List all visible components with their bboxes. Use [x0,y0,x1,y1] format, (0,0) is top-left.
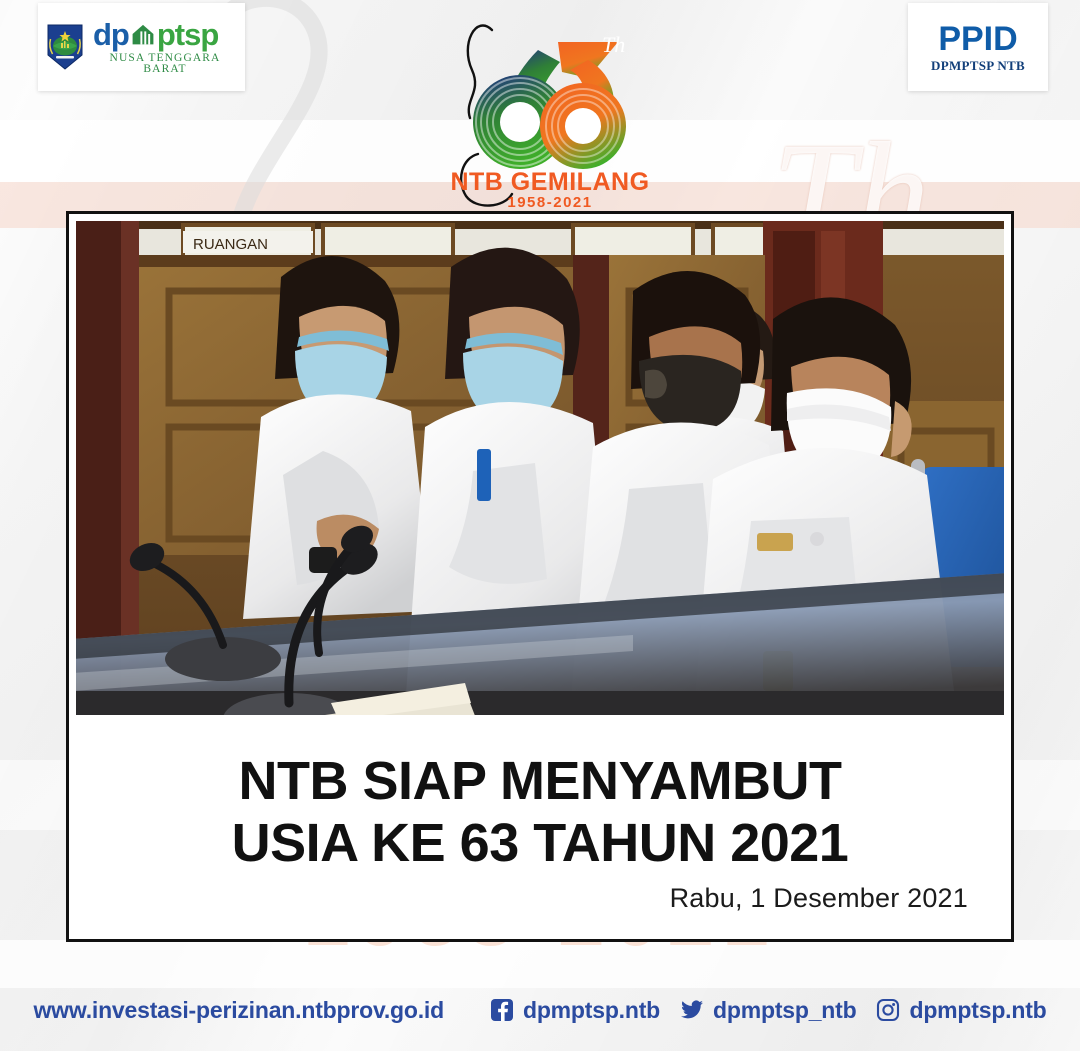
instagram-handle[interactable]: dpmptsp.ntb [876,997,1046,1024]
instagram-icon [876,998,900,1022]
instagram-handle-text: dpmptsp.ntb [909,997,1046,1024]
caption-block: NTB SIAP MENYAMBUT USIA KE 63 TAHUN 2021… [76,715,1004,932]
ppid-logo-card: PPID DPMPTSP NTB [908,3,1048,91]
twitter-handle-text: dpmptsp_ntb [713,997,856,1024]
facebook-icon [490,998,514,1022]
dpmptsp-logo-card: dp ptsp NUSA TENGGARA BARAT [38,3,245,91]
content-card: RUANGAN [66,211,1014,942]
website-link[interactable]: www.investasi-perizinan.ntbprov.go.id [33,997,443,1024]
emblem-years: 1958-2021 [507,194,592,209]
emblem-tagline: NTB GEMILANG [450,168,649,196]
ppid-title: PPID [931,22,1025,56]
emblem-superscript: Th [602,32,625,57]
ntb-provincial-crest-icon [46,24,84,70]
publish-date: Rabu, 1 Desember 2021 [670,883,968,914]
ntb-63rd-anniversary-emblem: Th NTB GEMILANG 1958-2021 [450,4,650,209]
headline-line-1: NTB SIAP MENYAMBUT [112,751,968,813]
twitter-icon [680,998,704,1022]
headline-line-2: USIA KE 63 TAHUN 2021 [112,813,968,875]
twitter-handle[interactable]: dpmptsp_ntb [680,997,856,1024]
logo-subtitle: NUSA TENGGARA BARAT [93,53,237,76]
logo-text-ptsp: ptsp [157,19,218,50]
logo-text-dp: dp [93,19,129,50]
header-bar: dp ptsp NUSA TENGGARA BARAT [0,0,1080,210]
building-arch-icon [130,21,156,47]
footer-bar: www.investasi-perizinan.ntbprov.go.id dp… [0,980,1080,1040]
facebook-handle[interactable]: dpmptsp.ntb [490,997,660,1024]
facebook-handle-text: dpmptsp.ntb [523,997,660,1024]
poster-root: Th NTB GEMILANG 1958-2021 [0,0,1080,1051]
ppid-subtitle: DPMPTSP NTB [931,59,1025,72]
room-sign-text: RUANGAN [193,236,268,253]
meeting-photo: RUANGAN [76,221,1004,715]
